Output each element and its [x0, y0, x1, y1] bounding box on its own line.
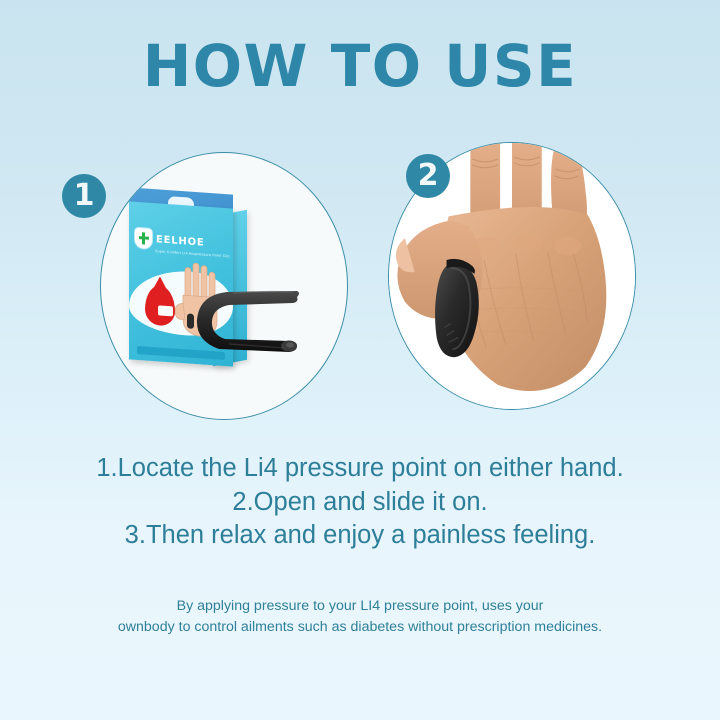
steps-illustration-row: 1 Acupressure EELHOE Super Comfort LI4 A…	[0, 140, 720, 430]
description-note-line-1: By applying pressure to your LI4 pressur…	[0, 596, 720, 617]
acupressure-clip-device	[193, 289, 305, 357]
panel-step-1: 1 Acupressure EELHOE Super Comfort LI4 A…	[100, 152, 348, 420]
page-title: HOW TO USE	[0, 36, 720, 97]
product-brand-name: EELHOE	[156, 234, 205, 248]
description-note: By applying pressure to your LI4 pressur…	[0, 596, 720, 639]
instruction-steps: 1.Locate the Li4 pressure point on eithe…	[0, 452, 720, 553]
step-badge-1: 1	[62, 174, 106, 218]
panel-step-2: 2	[388, 142, 636, 410]
instruction-step-2: 2.Open and slide it on.	[0, 486, 720, 520]
header: HOW TO USE	[0, 0, 720, 97]
step-1-photo-disc: Acupressure EELHOE Super Comfort LI4 Acu…	[100, 152, 348, 420]
step-badge-2: 2	[406, 154, 450, 198]
medical-shield-icon	[135, 228, 152, 249]
instruction-step-1: 1.Locate the Li4 pressure point on eithe…	[0, 452, 720, 486]
description-note-line-2: ownbody to control ailments such as diab…	[0, 617, 720, 638]
instruction-step-3: 3.Then relax and enjoy a painless feelin…	[0, 519, 720, 553]
